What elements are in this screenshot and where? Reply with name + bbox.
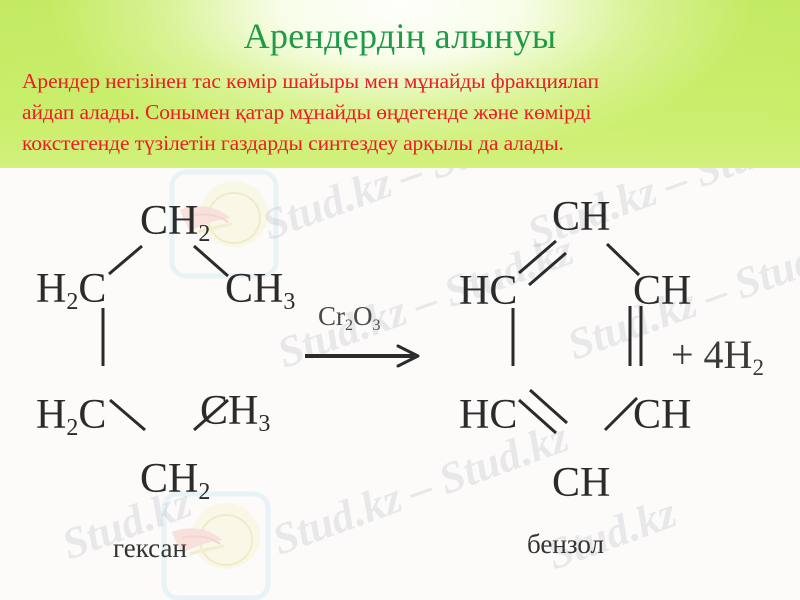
benzene-node-top: CH [552,196,610,238]
body-line-1: Арендер негізінен тас көмір шайыры мен м… [22,66,784,97]
byproduct-label: + 4H2 [671,335,764,379]
hexane-node-upper-right: CH3 [225,268,295,314]
header-band: Арендердің алынуы Арендер негізінен тас … [0,0,800,168]
benzene-node-lower-right: CH [633,394,691,436]
watermark-text: Stud.kz – Stud.kz [256,168,565,251]
page-title: Арендердің алынуы [0,15,800,57]
hexane-node-bottom: CH2 [140,458,210,504]
bond-upperleft-top-a [519,241,556,273]
bond-lowerleft-bottom [110,400,145,430]
bond-top-upperright [194,246,228,276]
body-paragraph: Арендер негізінен тас көмір шайыры мен м… [22,66,784,159]
hexane-node-lower-left: H2C [36,394,106,440]
hexane-node-lower-right: CH3 [200,390,270,436]
catalyst-label: Cr2O3 [318,303,381,334]
benzene-node-lower-left: HC [459,394,517,436]
bond-lowerleft-bottom-a [519,400,556,433]
body-line-2: айдап алады. Сонымен қатар мұнайды өңдег… [22,97,784,128]
bond-upperleft-top-b [529,253,566,285]
bond-lowerleft-bottom-b [530,390,567,423]
hexane-node-upper-left: H2C [36,268,106,314]
benzene-node-bottom: CH [552,462,610,504]
reaction-arrow-head [398,346,418,366]
hexane-node-top: CH2 [140,200,210,246]
product-name-label: бензол [527,531,604,558]
benzene-node-upper-left: HC [459,270,517,312]
slide-canvas: Арендердің алынуы Арендер негізінен тас … [0,0,800,600]
reactant-name-label: гексан [113,535,187,562]
bond-upperleft-top [109,246,142,274]
body-line-3: кокстегенде түзілетін газдарды синтездеу… [22,128,784,159]
benzene-node-upper-right: CH [633,270,691,312]
reaction-diagram: Stud.kz – Stud.kz Stud.kz – Stud.kz Stud… [0,168,800,600]
